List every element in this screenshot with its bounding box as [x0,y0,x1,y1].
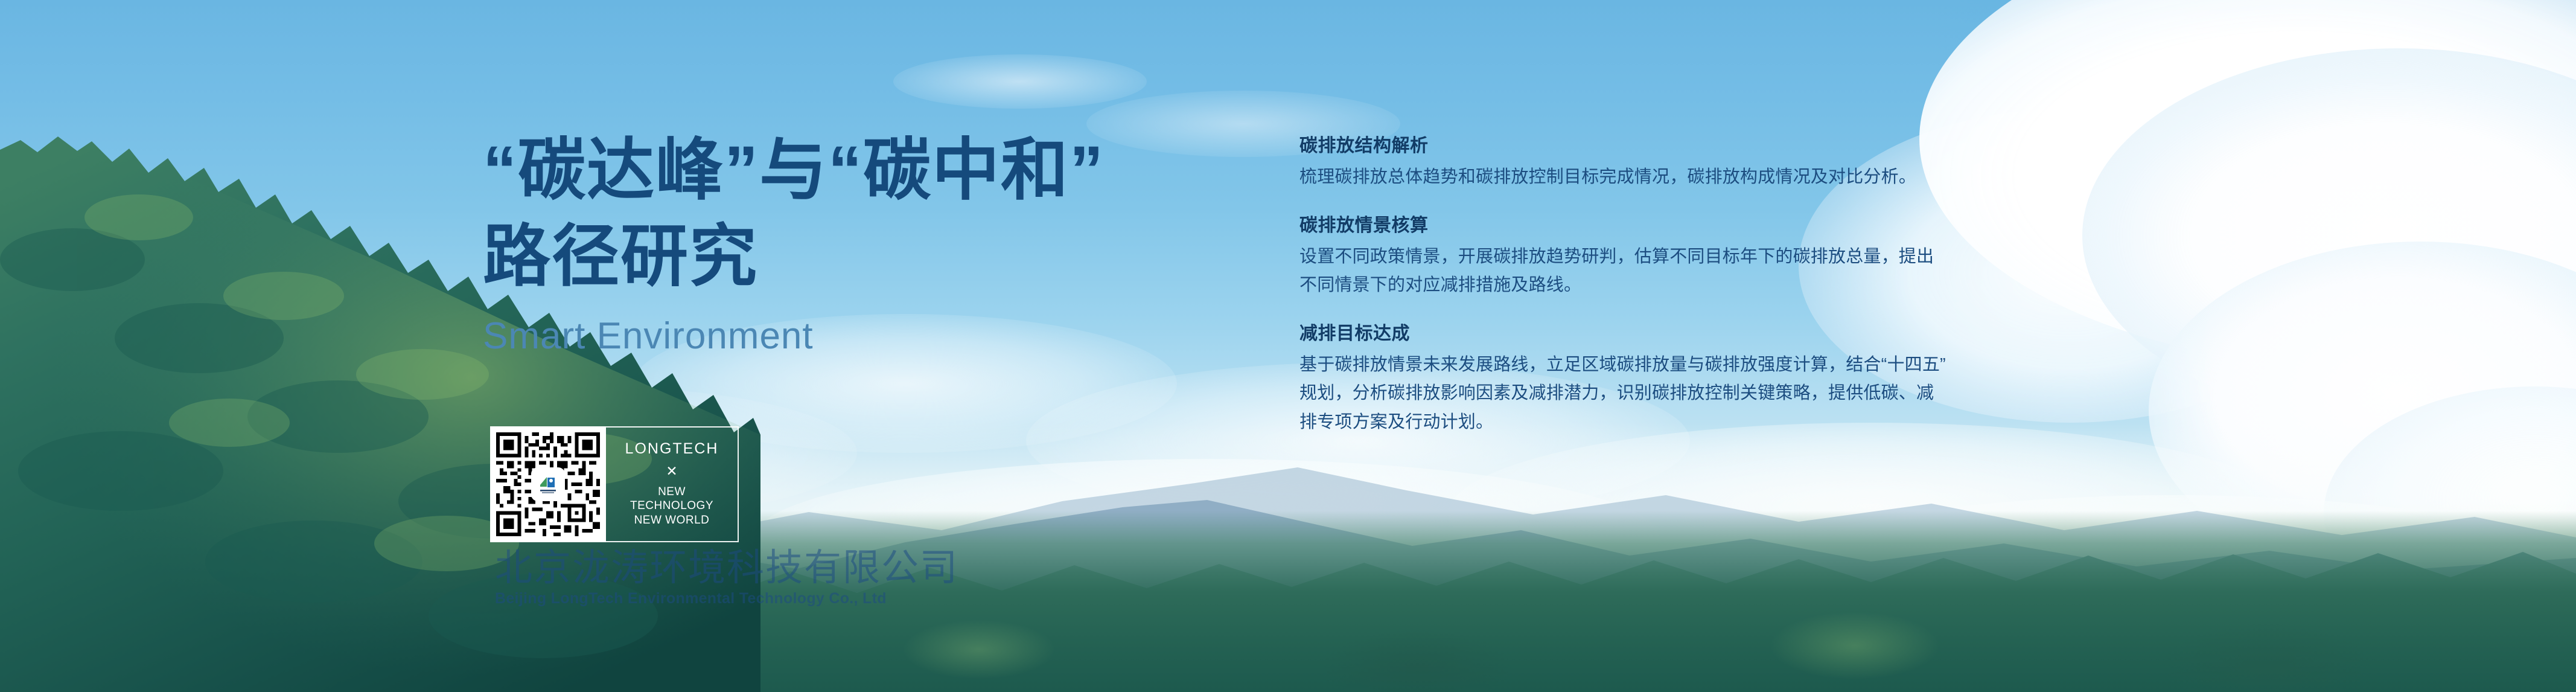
badge-separator-icon: ✕ [666,464,677,478]
qr-code-card[interactable] [490,426,606,542]
badge-tagline: NEW TECHNOLOGY NEW WORLD [630,485,713,527]
info-section-2-heading: 碳排放情景核算 [1299,214,2205,237]
cloud-wisp-upper-left [893,54,1147,109]
page-subtitle: Smart Environment [483,315,1243,357]
badge-tagline-line-1: NEW [630,485,713,499]
info-section-1: 碳排放结构解析 梳理碳排放总体趋势和碳排放控制目标完成情况，碳排放构成情况及对比… [1299,134,2205,192]
info-section-3-heading: 减排目标达成 [1299,322,2205,345]
page-title-line-1: “碳达峰”与“碳中和” [483,127,1243,213]
longtech-badge: LONGTECH ✕ NEW TECHNOLOGY NEW WORLD [606,426,739,542]
info-section-1-body: 梳理碳排放总体趋势和碳排放控制目标完成情况，碳排放构成情况及对比分析。 [1299,163,2181,192]
info-section-2-line-1: 设置不同政策情景，开展碳排放趋势研判，估算不同目标年下的碳排放总量，提出 [1299,243,2181,272]
qr-center-logo-icon [532,469,564,500]
info-section-3-line-3: 排专项方案及行动计划。 [1299,408,2181,437]
badge-tagline-line-2: TECHNOLOGY [630,499,713,513]
info-section-2: 碳排放情景核算 设置不同政策情景，开展碳排放趋势研判，估算不同目标年下的碳排放总… [1299,214,2205,300]
badge-tagline-line-3: NEW WORLD [630,513,713,527]
info-section-3-line-2: 规划，分析碳排放影响因素及减排潜力，识别碳排放控制关键策略，提供低碳、减 [1299,379,2181,408]
info-section-2-body: 设置不同政策情景，开展碳排放趋势研判，估算不同目标年下的碳排放总量，提出 不同情… [1299,243,2181,300]
title-block: “碳达峰”与“碳中和” 路径研究 Smart Environment [483,127,1243,357]
carbon-neutrality-banner: “碳达峰”与“碳中和” 路径研究 Smart Environment [0,0,2576,692]
info-section-3-body: 基于碳排放情景未来发展路线，立足区域碳排放量与碳排放强度计算，结合“十四五” 规… [1299,351,2181,437]
info-section-2-line-2: 不同情景下的对应减排措施及路线。 [1299,271,2181,300]
badge-brand-name: LONGTECH [625,441,719,457]
info-section-1-line-1: 梳理碳排放总体趋势和碳排放控制目标完成情况，碳排放构成情况及对比分析。 [1299,163,2181,192]
qr-badge-group[interactable]: LONGTECH ✕ NEW TECHNOLOGY NEW WORLD [490,426,739,542]
info-section-3-line-1: 基于碳排放情景未来发展路线，立足区域碳排放量与碳排放强度计算，结合“十四五” [1299,351,2181,380]
info-section-3: 减排目标达成 基于碳排放情景未来发展路线，立足区域碳排放量与碳排放强度计算，结合… [1299,322,2205,437]
info-sections: 碳排放结构解析 梳理碳排放总体趋势和碳排放控制目标完成情况，碳排放构成情况及对比… [1299,134,2205,437]
page-title-line-2: 路径研究 [483,213,1243,300]
info-section-1-heading: 碳排放结构解析 [1299,134,2205,158]
